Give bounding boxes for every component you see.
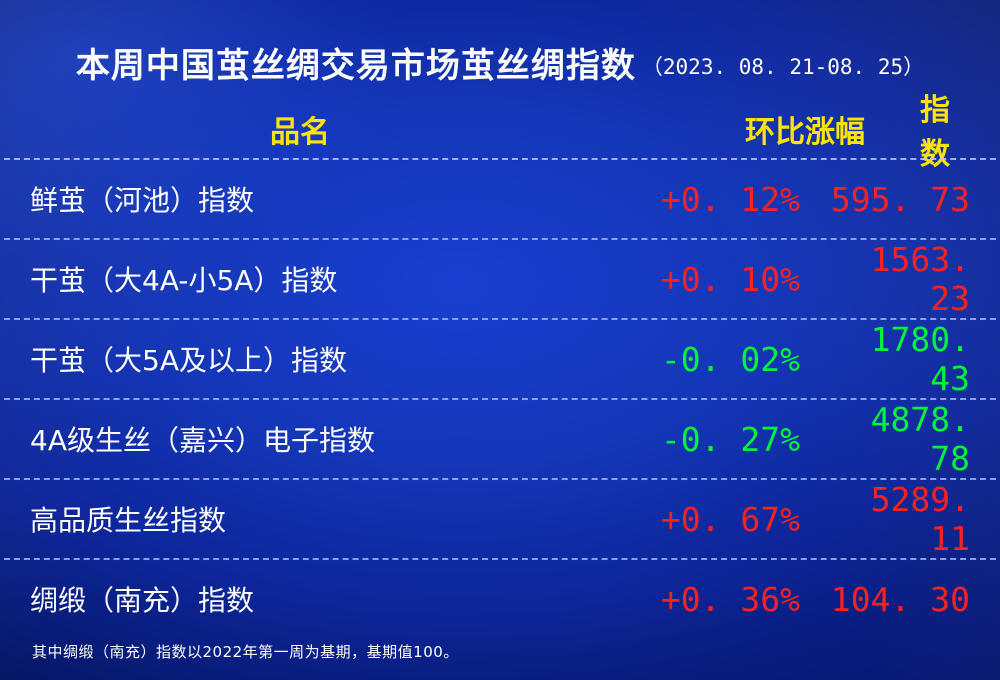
cell-index: 1563. 23 bbox=[871, 240, 970, 318]
table-row: 干茧（大5A及以上）指数 -0. 02% 1780. 43 bbox=[0, 320, 1000, 398]
cell-change: +0. 36% bbox=[661, 580, 800, 619]
cell-index: 5289. 11 bbox=[871, 480, 970, 558]
table-row: 高品质生丝指数 +0. 67% 5289. 11 bbox=[0, 480, 1000, 558]
cell-name: 干茧（大4A-小5A）指数 bbox=[30, 264, 337, 297]
table-row: 4A级生丝（嘉兴）电子指数 -0. 27% 4878. 78 bbox=[0, 400, 1000, 478]
row-divider bbox=[4, 318, 996, 320]
slide-content: 本周中国茧丝绸交易市场茧丝绸指数（2023. 08. 21-08. 25） 品名… bbox=[0, 0, 1000, 680]
cell-index: 1780. 43 bbox=[871, 320, 970, 398]
cell-change: -0. 27% bbox=[661, 420, 800, 459]
cell-name: 绸缎（南充）指数 bbox=[30, 584, 254, 617]
index-table: 品名 环比涨幅 指数 鲜茧（河池）指数 +0. 12% 595. 73 干茧（大… bbox=[0, 100, 1000, 638]
row-divider bbox=[4, 238, 996, 240]
page-title: 本周中国茧丝绸交易市场茧丝绸指数（2023. 08. 21-08. 25） bbox=[0, 38, 1000, 87]
table-header-row: 品名 环比涨幅 指数 bbox=[0, 100, 1000, 158]
slide-background: 本周中国茧丝绸交易市场茧丝绸指数（2023. 08. 21-08. 25） 品名… bbox=[0, 0, 1000, 680]
cell-name: 鲜茧（河池）指数 bbox=[30, 184, 254, 217]
header-cell-change: 环比涨幅 bbox=[690, 107, 920, 151]
cell-index: 104. 30 bbox=[831, 580, 970, 619]
table-row: 干茧（大4A-小5A）指数 +0. 10% 1563. 23 bbox=[0, 240, 1000, 318]
cell-change: +0. 12% bbox=[661, 180, 800, 219]
header-cell-name: 品名 bbox=[30, 107, 690, 151]
row-divider bbox=[4, 478, 996, 480]
cell-change: +0. 67% bbox=[661, 500, 800, 539]
table-row: 鲜茧（河池）指数 +0. 12% 595. 73 bbox=[0, 160, 1000, 238]
footnote-text: 其中绸缎（南充）指数以2022年第一周为基期，基期值100。 bbox=[32, 641, 459, 662]
title-period-text: （2023. 08. 21-08. 25） bbox=[642, 55, 924, 79]
title-main-text: 本周中国茧丝绸交易市场茧丝绸指数 bbox=[76, 46, 636, 86]
row-divider bbox=[4, 158, 996, 160]
row-divider bbox=[4, 558, 996, 560]
table-row: 绸缎（南充）指数 +0. 36% 104. 30 bbox=[0, 560, 1000, 638]
cell-name: 4A级生丝（嘉兴）电子指数 bbox=[30, 424, 375, 457]
cell-change: +0. 10% bbox=[661, 260, 800, 299]
cell-index: 595. 73 bbox=[831, 180, 970, 219]
cell-name: 干茧（大5A及以上）指数 bbox=[30, 344, 347, 377]
cell-index: 4878. 78 bbox=[871, 400, 970, 478]
cell-change: -0. 02% bbox=[661, 340, 800, 379]
cell-name: 高品质生丝指数 bbox=[30, 504, 226, 537]
row-divider bbox=[4, 398, 996, 400]
